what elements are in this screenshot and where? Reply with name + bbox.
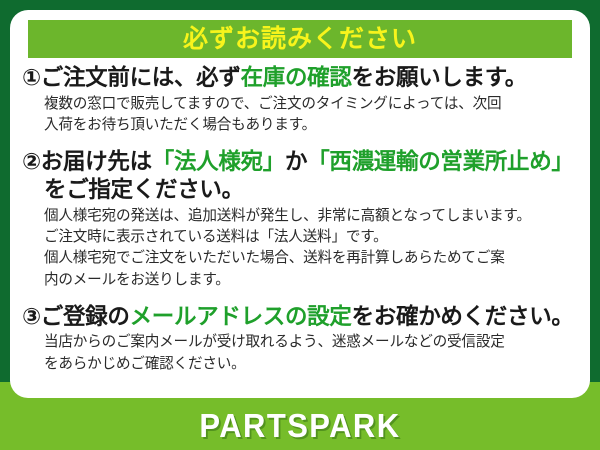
notice-item-3: ③ご登録のメールアドレスの設定をお確かめください。 当店からのご案内メールが受け… (10, 303, 590, 375)
footer-brand: PARTSPARK (0, 409, 600, 442)
notice-body-2: 個人様宅宛の発送は、追加送料が発生し、非常に高額となってしまいます。 ご注文時に… (22, 206, 580, 291)
notice-heading-3: ③ご登録のメールアドレスの設定をお確かめください。 (22, 303, 580, 331)
notice-item-1: ①ご注文前には、必ず在庫の確認をお願いします。 複数の窓口で販売してますので、ご… (10, 64, 590, 136)
notice-frame: 必ずお読みください ①ご注文前には、必ず在庫の確認をお願いします。 複数の窓口で… (0, 0, 600, 450)
notice-marker-1: ① (22, 65, 41, 90)
notice-heading-1: ①ご注文前には、必ず在庫の確認をお願いします。 (22, 64, 580, 92)
notice-body-line: をあらかじめご確認ください。 (44, 354, 580, 375)
notice-body-line: ご注文時に表示されている送料は「法人送料」です。 (44, 227, 580, 248)
notice-heading-accent-2b: 「西濃運輸の営業所止め」 (307, 149, 573, 174)
notice-heading-part-2-2: か (285, 149, 307, 174)
notice-heading-accent-3: メールアドレスの設定 (130, 304, 352, 329)
notice-heading-accent-1: 在庫の確認 (241, 65, 352, 90)
banner-title: 必ずお読みください (183, 27, 417, 52)
title-banner: 必ずお読みください (28, 20, 572, 58)
notice-body-3: 当店からのご案内メールが受け取れるよう、迷惑メールなどの受信設定 をあらかじめご… (22, 332, 580, 375)
notice-heading-part-1-0: ご注文前には、必ず (41, 65, 241, 90)
notice-body-line: 入荷をお待ち頂いただく場合もあります。 (44, 115, 580, 136)
notice-body-line: 個人様宅宛でご注文をいただいた場合、送料を再計算しあらためてご案 (44, 248, 580, 269)
notice-item-2: ②お届け先は「法人様宛」か「西濃運輸の営業所止め」 をご指定ください。 個人様宅… (10, 148, 590, 291)
notice-marker-2: ② (22, 149, 41, 174)
notice-body-line: 複数の窓口で販売してますので、ご注文のタイミングによっては、次回 (44, 94, 580, 115)
notice-body-line: 当店からのご案内メールが受け取れるよう、迷惑メールなどの受信設定 (44, 332, 580, 353)
notice-heading-part-3-0: ご登録の (41, 304, 130, 329)
notice-heading-part-2-0: お届け先は (41, 149, 152, 174)
notice-heading-part-1-2: をお願いします。 (352, 65, 527, 90)
brand-name: PARTSPARK (199, 409, 400, 442)
notice-heading-2-continuation: をご指定ください。 (22, 176, 580, 204)
notice-body-line: 内のメールをお送りします。 (44, 270, 580, 291)
notice-list: ①ご注文前には、必ず在庫の確認をお願いします。 複数の窓口で販売してますので、ご… (10, 64, 590, 375)
notice-heading-2: ②お届け先は「法人様宛」か「西濃運輸の営業所止め」 (22, 148, 580, 176)
notice-body-1: 複数の窓口で販売してますので、ご注文のタイミングによっては、次回 入荷をお待ち頂… (22, 94, 580, 137)
notice-marker-3: ③ (22, 304, 41, 329)
notice-body-line: 個人様宅宛の発送は、追加送料が発生し、非常に高額となってしまいます。 (44, 206, 580, 227)
notice-panel: 必ずお読みください ①ご注文前には、必ず在庫の確認をお願いします。 複数の窓口で… (10, 10, 590, 398)
notice-heading-accent-2a: 「法人様宛」 (152, 149, 285, 174)
notice-heading-part-3-2: をお確かめください。 (352, 304, 574, 329)
